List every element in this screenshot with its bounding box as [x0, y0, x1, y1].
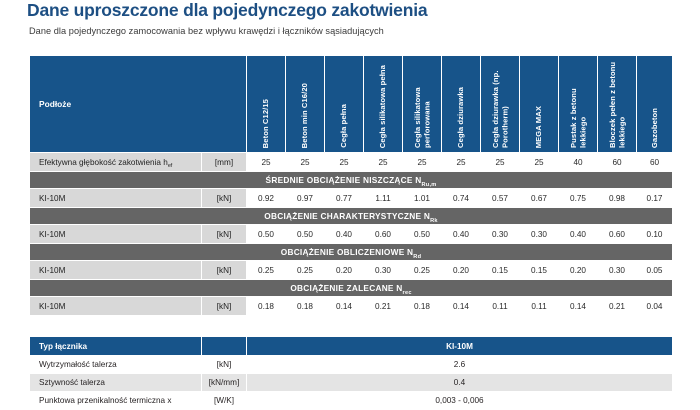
table-row: KI-10M [kN] 0.92 0.97 0.77 1.11 1.01 0.7…	[30, 189, 673, 208]
header-row: Podłoże Beton C12/15 Beton min C16/20 Ce…	[30, 56, 673, 153]
header-col-label: Cegła silikatowa perforowana	[413, 59, 432, 148]
connector-spec-header-unit	[202, 337, 247, 356]
row-label: Sztywność talerza	[30, 374, 202, 392]
header-col-label: Beton C12/15	[261, 99, 270, 148]
header-col-gazobeton: Gazobeton	[637, 56, 673, 153]
section-band-cell: OBCIĄŻENIE CHARAKTERYSTYCZNE NRk	[30, 208, 673, 225]
table-row: Wytrzymałość talerza [kN] 2.6	[30, 356, 673, 374]
section-band-text: ŚREDNIE OBCIĄŻENIE NISZCZĄCE N	[266, 175, 422, 185]
cell: 60	[598, 153, 637, 172]
cell: 25	[442, 153, 481, 172]
cell: 0.04	[637, 297, 673, 316]
section-band: ŚREDNIE OBCIĄŻENIE NISZCZĄCE NRu,m	[30, 172, 673, 189]
cell: 0.21	[364, 297, 403, 316]
anchor-data-table-container: Podłoże Beton C12/15 Beton min C16/20 Ce…	[29, 55, 672, 316]
table-row: KI-10M [kN] 0.18 0.18 0.14 0.21 0.18 0.1…	[30, 297, 673, 316]
cell: 0.75	[559, 189, 598, 208]
cell: 0.50	[286, 225, 325, 244]
section-band-subscript: Ru,m	[421, 182, 436, 188]
table-row: Efektywna głębokość zakotwienia hef [mm]…	[30, 153, 673, 172]
table-row: KI-10M [kN] 0.50 0.50 0.40 0.60 0.50 0.4…	[30, 225, 673, 244]
cell: 0.30	[520, 225, 559, 244]
cell: 0.60	[364, 225, 403, 244]
cell: 0.15	[520, 261, 559, 280]
page-title: Dane uproszczone dla pojedynczego zakotw…	[27, 0, 427, 21]
table-row: KI-10M [kN] 0.25 0.25 0.20 0.30 0.25 0.2…	[30, 261, 673, 280]
cell: 0.98	[598, 189, 637, 208]
cell: 0.20	[442, 261, 481, 280]
cell: 0.11	[520, 297, 559, 316]
section-band-text: OBCIĄŻENIE OBLICZENIOWE N	[281, 247, 414, 257]
header-col-label: MEGA MAX	[534, 106, 543, 148]
row-unit: [kN]	[202, 261, 247, 280]
header-col-beton-min-c16-20: Beton min C16/20	[286, 56, 325, 153]
header-col-label: Cegła dziurawka	[456, 87, 465, 148]
cell: 0.30	[481, 225, 520, 244]
row-unit: [kN/mm]	[202, 374, 247, 392]
cell: 0.50	[403, 225, 442, 244]
cell: 0.30	[364, 261, 403, 280]
header-col-label: Gazobeton	[650, 108, 659, 148]
section-band-cell: OBCIĄŻENIE ZALECANE Nrec	[30, 280, 673, 297]
connector-spec-table-container: Typ łącznika KI-10M Wytrzymałość talerza…	[29, 336, 672, 410]
row-unit: [kN]	[202, 189, 247, 208]
cell: 25	[403, 153, 442, 172]
section-band: OBCIĄŻENIE ZALECANE Nrec	[30, 280, 673, 297]
row-label-subscript: ef	[168, 163, 173, 169]
header-col-label: Beton min C16/20	[300, 83, 309, 148]
connector-spec-header-value: KI-10M	[247, 337, 673, 356]
cell: 0.50	[247, 225, 286, 244]
header-col-beton-c12-15: Beton C12/15	[247, 56, 286, 153]
connector-spec-table: Typ łącznika KI-10M Wytrzymałość talerza…	[29, 336, 673, 410]
cell: 0.77	[325, 189, 364, 208]
header-col-cegla-dziurawka-porotherm: Cegła dziurawka (np. Porotherm)	[481, 56, 520, 153]
cell: 25	[286, 153, 325, 172]
cell: 0.17	[637, 189, 673, 208]
header-col-label: Cegła pełna	[339, 104, 348, 148]
cell: 0.40	[325, 225, 364, 244]
row-label: KI-10M	[30, 297, 202, 316]
cell: 0.4	[247, 374, 673, 392]
section-band-text: OBCIĄŻENIE CHARAKTERYSTYCZNE N	[264, 211, 430, 221]
header-col-label: Cegła dziurawka (np. Porotherm)	[491, 59, 510, 148]
cell: 0.18	[247, 297, 286, 316]
cell: 0.15	[481, 261, 520, 280]
cell: 0.18	[286, 297, 325, 316]
table-row: Sztywność talerza [kN/mm] 0.4	[30, 374, 673, 392]
section-band-subscript: rec	[403, 290, 412, 296]
section-band-cell: OBCIĄŻENIE OBLICZENIOWE NRd	[30, 244, 673, 261]
connector-spec-header-row: Typ łącznika KI-10M	[30, 337, 673, 356]
cell: 0.92	[247, 189, 286, 208]
cell: 0.40	[559, 225, 598, 244]
table-head: Podłoże Beton C12/15 Beton min C16/20 Ce…	[30, 56, 673, 153]
cell: 2.6	[247, 356, 673, 374]
cell: 25	[247, 153, 286, 172]
header-col-label: Cegła silikatowa pełna	[378, 65, 387, 148]
cell: 0.67	[520, 189, 559, 208]
row-label: KI-10M	[30, 189, 202, 208]
cell: 25	[481, 153, 520, 172]
row-label: Wytrzymałość talerza	[30, 356, 202, 374]
header-cell-podloze: Podłoże	[30, 56, 247, 153]
header-col-cegla-silikatowa-pelna: Cegła silikatowa pełna	[364, 56, 403, 153]
row-label: KI-10M	[30, 261, 202, 280]
datasheet-page: Dane uproszczone dla pojedynczego zakotw…	[0, 0, 700, 407]
cell: 25	[325, 153, 364, 172]
row-unit: [mm]	[202, 153, 247, 172]
row-label: Efektywna głębokość zakotwienia hef	[30, 153, 202, 172]
cell: 40	[559, 153, 598, 172]
section-band: OBCIĄŻENIE CHARAKTERYSTYCZNE NRk	[30, 208, 673, 225]
cell: 0.25	[286, 261, 325, 280]
section-band: OBCIĄŻENIE OBLICZENIOWE NRd	[30, 244, 673, 261]
header-col-cegla-pelna: Cegła pełna	[325, 56, 364, 153]
cell: 0.20	[325, 261, 364, 280]
row-unit: [kN]	[202, 225, 247, 244]
header-col-cegla-dziurawka: Cegła dziurawka	[442, 56, 481, 153]
cell: 0.14	[325, 297, 364, 316]
cell: 0.57	[481, 189, 520, 208]
row-label: KI-10M	[30, 225, 202, 244]
cell: 25	[520, 153, 559, 172]
cell: 0.21	[598, 297, 637, 316]
row-unit: [kN]	[202, 297, 247, 316]
row-label-text: Efektywna głębokość zakotwienia h	[39, 158, 168, 167]
cell: 0.10	[637, 225, 673, 244]
connector-spec-header-label: Typ łącznika	[30, 337, 202, 356]
header-col-cegla-silikatowa-perforowana: Cegła silikatowa perforowana	[403, 56, 442, 153]
cell: 0.20	[559, 261, 598, 280]
cell: 60	[637, 153, 673, 172]
cell: 0.14	[442, 297, 481, 316]
cell: 1.01	[403, 189, 442, 208]
cell: 0.97	[286, 189, 325, 208]
cell: 0.60	[598, 225, 637, 244]
header-col-mega-max: MEGA MAX	[520, 56, 559, 153]
cell: 0.14	[559, 297, 598, 316]
cell: 0.40	[442, 225, 481, 244]
connector-spec-body: Typ łącznika KI-10M Wytrzymałość talerza…	[30, 337, 673, 410]
cell: 0.05	[637, 261, 673, 280]
cell: 0.74	[442, 189, 481, 208]
section-band-cell: ŚREDNIE OBCIĄŻENIE NISZCZĄCE NRu,m	[30, 172, 673, 189]
anchor-data-table: Podłoże Beton C12/15 Beton min C16/20 Ce…	[29, 55, 673, 316]
table-body: Efektywna głębokość zakotwienia hef [mm]…	[30, 153, 673, 316]
header-col-label: Bloczek pełen z betonu lekkiego	[608, 59, 627, 148]
header-col-label: Pustak z betonu lekkiego	[569, 59, 588, 148]
cell: 25	[364, 153, 403, 172]
cell: 0.30	[598, 261, 637, 280]
cell: 1.11	[364, 189, 403, 208]
cell: 0.25	[247, 261, 286, 280]
header-col-pustak-z-betonu-lekkiego: Pustak z betonu lekkiego	[559, 56, 598, 153]
cell: 0.11	[481, 297, 520, 316]
page-subtitle: Dane dla pojedynczego zamocowania bez wp…	[29, 26, 384, 36]
section-band-subscript: Rd	[413, 254, 421, 260]
cell: 0.25	[403, 261, 442, 280]
cell: 0.18	[403, 297, 442, 316]
section-band-subscript: Rk	[430, 218, 438, 224]
section-band-text: OBCIĄŻENIE ZALECANE N	[290, 283, 402, 293]
row-unit: [kN]	[202, 356, 247, 374]
header-col-bloczek-pelen-z-betonu-lekkiego: Bloczek pełen z betonu lekkiego	[598, 56, 637, 153]
